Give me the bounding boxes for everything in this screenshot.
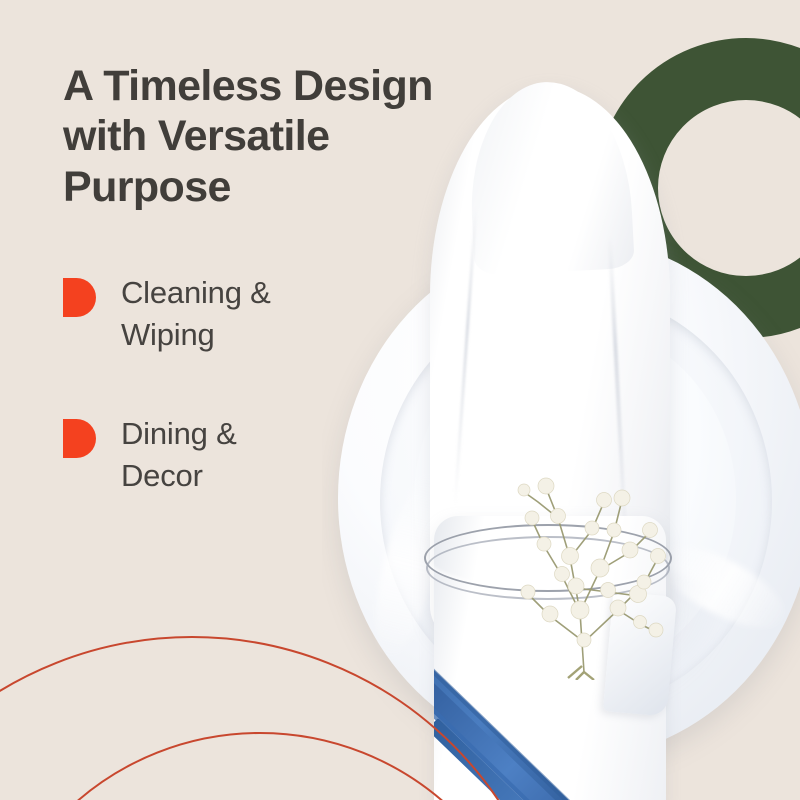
half-circle-marker-icon (63, 419, 96, 458)
infographic-canvas: A Timeless Design with Versatile Purpose… (0, 0, 800, 800)
half-circle-marker-icon (63, 278, 96, 317)
list-item-label: Dining & Decor (121, 413, 237, 496)
list-item: Dining & Decor (63, 413, 353, 496)
list-item: Cleaning & Wiping (63, 272, 353, 355)
text-column: A Timeless Design with Versatile Purpose… (0, 0, 360, 800)
benefit-list: Cleaning & Wiping Dining & Decor (63, 272, 353, 554)
babys-breath-flowers (472, 380, 702, 680)
page-title: A Timeless Design with Versatile Purpose (63, 61, 483, 212)
list-item-label: Cleaning & Wiping (121, 272, 271, 355)
